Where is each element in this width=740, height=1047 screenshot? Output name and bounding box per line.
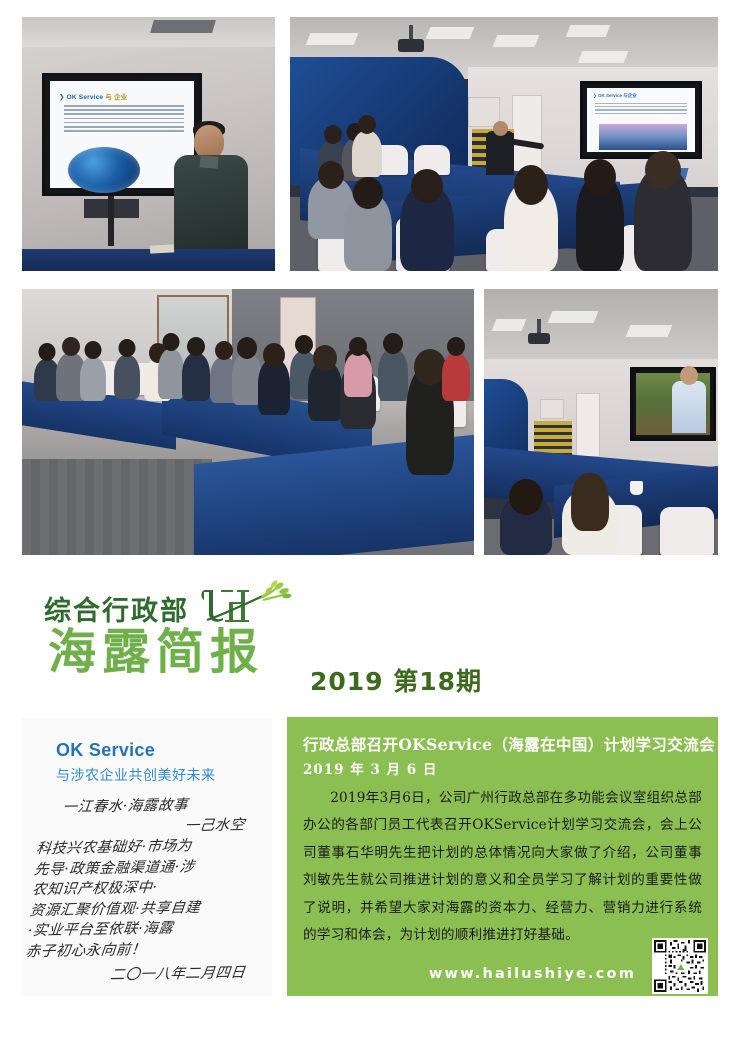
ceiling-light [493, 35, 540, 47]
attendee-head [263, 343, 285, 367]
attendee-head [645, 151, 681, 189]
attendee-head [295, 335, 313, 354]
attendee-head [383, 333, 403, 354]
chair [660, 507, 714, 555]
ceiling-light [492, 319, 527, 331]
attendee-head [39, 343, 56, 361]
attendee [308, 361, 342, 421]
website-url[interactable]: www.hailushiye.com [429, 966, 636, 982]
attendee [562, 489, 618, 555]
attendee-head [411, 169, 443, 203]
presenter-body [486, 131, 514, 175]
photo-audience-rows [22, 289, 474, 555]
attendee-head [62, 337, 80, 356]
ceiling-light [548, 311, 599, 323]
attendee-head [318, 161, 344, 189]
article-headline: 行政总部召开OKService（海露在中国）计划学习交流会 [303, 733, 704, 755]
article-panel: 行政总部召开OKService（海露在中国）计划学习交流会 2019 年 3 月… [287, 717, 718, 996]
attendee [500, 495, 552, 555]
attendee-head [353, 177, 383, 209]
masthead: 综合行政部 海露简报 2019 [0, 560, 740, 700]
calligraphy-line: 赤子初心永向前！ [24, 938, 259, 963]
attendee-head [509, 479, 543, 515]
department-line: 综合行政部 [44, 580, 295, 628]
attendee-head [447, 337, 465, 356]
attendee-head [163, 333, 180, 351]
ceiling-projector [528, 333, 550, 344]
attendee [182, 353, 210, 401]
attendee [114, 355, 140, 399]
ceiling-light [306, 33, 359, 45]
attendee [258, 359, 290, 415]
attendee-head [349, 337, 367, 356]
attendee [634, 167, 692, 271]
department-name: 综合行政部 [44, 589, 189, 628]
attendee [80, 357, 106, 401]
ceiling-light [626, 325, 673, 337]
attendee [344, 193, 392, 271]
slide-image [599, 124, 687, 150]
attendee-head [215, 341, 233, 360]
slide-content: ❯ OK Service 与 企业 [50, 81, 194, 188]
ceiling-light [578, 51, 629, 63]
attendee [378, 349, 408, 401]
attendee-head [313, 345, 337, 371]
ceiling-light [566, 25, 611, 37]
attendee-head [324, 125, 342, 144]
attendee [352, 131, 382, 177]
globe-graphic [68, 147, 140, 193]
room-door [576, 393, 600, 457]
attendee-head [119, 339, 136, 357]
attendee [158, 349, 184, 399]
issue-number: 2019 第18期 [310, 662, 482, 698]
attendee-head [85, 341, 102, 359]
attendee-head [237, 337, 257, 359]
attendee-head [358, 115, 376, 134]
room-ceiling [22, 17, 275, 47]
calligraphy-date: 二〇一八年二月四日 [22, 962, 257, 987]
presenter-head [493, 121, 508, 136]
attendee-head [584, 159, 616, 195]
ok-service-title: OK Service [56, 740, 155, 761]
attendee [576, 175, 624, 271]
attendee [504, 181, 558, 271]
photo-meeting-room-audience: ❯ OK Service 与企业 [290, 17, 718, 271]
presenter-head [194, 125, 224, 159]
ceiling-light [426, 27, 475, 39]
attendee-head [571, 473, 609, 531]
notebook-on-table [150, 244, 174, 253]
attendee [344, 353, 372, 397]
article-date: 2019 年 3 月 6 日 [303, 758, 437, 778]
article-body: 2019年3月6日，公司广州行政总部在多功能会议室组织总部办公的各部门员工代表召… [303, 785, 702, 950]
projection-screen: ❯ OK Service 与企业 [580, 81, 702, 159]
video-person-head [680, 366, 698, 385]
slide-text-lines [595, 103, 687, 116]
qr-code[interactable] [652, 938, 708, 994]
slide-content: ❯ OK Service 与企业 [587, 88, 695, 152]
ok-service-panel: OK Service 与涉农企业共创美好未来 一江春水·海露故事 一己水空 科技… [22, 718, 272, 996]
calligraphy-note: 一江春水·海露故事 一己水空 科技兴农基础好·市场为 先导·政策金融渠道通·涉 … [22, 794, 274, 988]
ok-service-subtitle: 与涉农企业共创美好未来 [56, 765, 216, 785]
photo-presenter-at-screen: ❯ OK Service 与 企业 [22, 17, 275, 271]
lh-logo [199, 580, 295, 628]
attendee-head [514, 165, 548, 205]
video-content [636, 373, 710, 435]
stacked-chairs [534, 421, 572, 455]
screen-stand-pole [108, 196, 114, 246]
ceiling-vent [150, 20, 216, 33]
page-title: 海露简报 [48, 628, 264, 676]
slide-text-lines [64, 105, 184, 141]
attendee [442, 353, 470, 401]
attendee [400, 185, 454, 271]
attendee-head [187, 337, 205, 356]
ceiling-projector [398, 39, 424, 52]
slide-title: ❯ OK Service 与 企业 [59, 91, 127, 101]
projection-screen [630, 367, 716, 441]
presenter-collar [200, 155, 219, 168]
video-person-body [672, 381, 706, 433]
slide-title: ❯ OK Service 与企业 [593, 93, 637, 99]
wall-cabinet [540, 399, 564, 419]
meeting-table [22, 249, 275, 271]
photo-video-presentation: 业 [484, 289, 718, 555]
coffee-cup [630, 481, 643, 495]
